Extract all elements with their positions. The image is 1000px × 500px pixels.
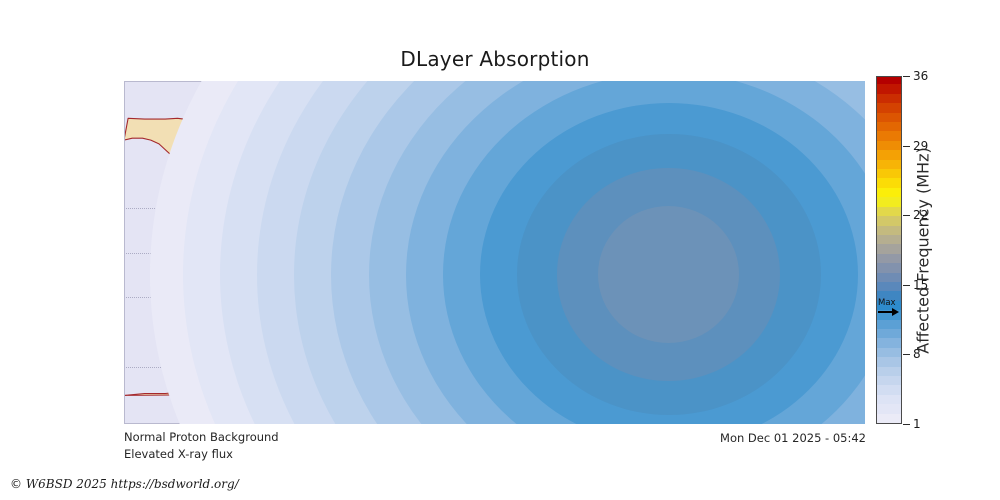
colorbar-segment <box>877 159 901 169</box>
colorbar-axis-label: Affected Frequency (MHz) <box>910 76 936 424</box>
colorbar-tick <box>903 285 910 286</box>
colorbar-segment <box>877 103 901 113</box>
dlayer-absorption-figure: DLayer Absorption Normal Proton Backgrou… <box>0 0 1000 500</box>
colorbar-segment <box>877 328 901 338</box>
colorbar-segment <box>877 404 901 414</box>
colorbar-segment <box>877 375 901 385</box>
colorbar-segment <box>877 366 901 376</box>
colorbar-segment <box>877 385 901 395</box>
colorbar-segment <box>877 206 901 216</box>
colorbar-segment <box>877 338 901 348</box>
colorbar-max-annotation: Max <box>878 299 900 316</box>
colorbar-segment <box>877 112 901 122</box>
colorbar-segment <box>877 281 901 291</box>
colorbar-segment <box>877 234 901 244</box>
footnote-xray-flux: Elevated X-ray flux <box>124 447 233 461</box>
colorbar-segment <box>877 76 901 84</box>
colorbar-gradient <box>876 76 902 424</box>
colorbar-segment <box>877 244 901 254</box>
colorbar-segment <box>877 394 901 404</box>
colorbar-segment <box>877 197 901 207</box>
colorbar-segment <box>877 121 901 131</box>
colorbar-tick <box>903 354 910 355</box>
colorbar-tick <box>903 215 910 216</box>
colorbar-segment <box>877 178 901 188</box>
colorbar-segment <box>877 140 901 150</box>
colorbar-tick <box>903 146 910 147</box>
colorbar-segment <box>877 272 901 282</box>
colorbar-segment <box>877 262 901 272</box>
colorbar-segment <box>877 150 901 160</box>
colorbar-segment <box>877 253 901 263</box>
credit-text: W6BSD 2025 https://bsdworld.org/ <box>26 477 239 491</box>
copyright-icon: © <box>10 477 22 491</box>
max-label: Max <box>878 299 900 308</box>
colorbar-tick <box>903 424 910 425</box>
colorbar-segment <box>877 93 901 103</box>
colorbar-segment <box>877 356 901 366</box>
colorbar-segment <box>877 187 901 197</box>
colorbar-segment <box>877 225 901 235</box>
colorbar-segment <box>877 215 901 225</box>
colorbar-tick <box>903 76 910 77</box>
colorbar-segment <box>877 413 901 423</box>
colorbar-segment <box>877 319 901 329</box>
footnote-proton-background: Normal Proton Background <box>124 430 279 444</box>
credit-line: © W6BSD 2025 https://bsdworld.org/ <box>10 477 239 491</box>
colorbar-segment <box>877 131 901 141</box>
page-title: DLayer Absorption <box>0 47 990 71</box>
max-arrow-icon <box>878 308 900 316</box>
timestamp: Mon Dec 01 2025 - 05:42 <box>720 431 866 445</box>
world-map-plot[interactable] <box>124 81 865 424</box>
colorbar-segment <box>877 347 901 357</box>
colorbar-segment <box>877 84 901 94</box>
colorbar-segment <box>877 168 901 178</box>
colorbar[interactable]: 1815222936 Max <box>876 76 902 424</box>
absorption-band <box>598 206 739 343</box>
